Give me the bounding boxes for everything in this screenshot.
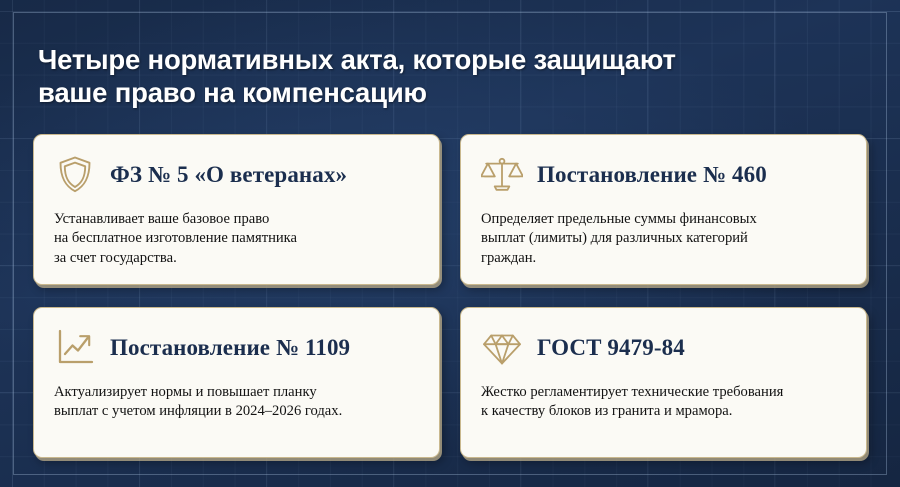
card-header: Постановление № 460 [481, 151, 848, 197]
card-title: Постановление № 460 [537, 161, 767, 188]
card-header: ГОСТ 9479-84 [481, 324, 848, 370]
card-description: Устанавливает ваше базовое право на бесп… [54, 210, 421, 268]
card-header: Постановление № 1109 [54, 324, 421, 370]
law-card-gost-9479-84: ГОСТ 9479-84 Жестко регламентирует техни… [460, 307, 867, 458]
card-title: ФЗ № 5 «О ветеранах» [110, 161, 347, 188]
card-description: Жестко регламентирует технические требов… [481, 383, 848, 422]
card-header: ФЗ № 5 «О ветеранах» [54, 151, 421, 197]
scales-icon [481, 153, 523, 195]
law-card-postanovlenie-460: Постановление № 460 Определяет предельны… [460, 134, 867, 285]
diamond-icon [481, 326, 523, 368]
law-card-postanovlenie-1109: Постановление № 1109 Актуализирует нормы… [33, 307, 440, 458]
card-title: ГОСТ 9479-84 [537, 334, 685, 361]
law-cards-grid: ФЗ № 5 «О ветеранах» Устанавливает ваше … [33, 134, 867, 458]
card-description: Актуализирует нормы и повышает планку вы… [54, 383, 421, 422]
law-card-fz-5: ФЗ № 5 «О ветеранах» Устанавливает ваше … [33, 134, 440, 285]
page-title: Четыре нормативных акта, которые защищаю… [38, 43, 838, 109]
card-title: Постановление № 1109 [110, 334, 350, 361]
growth-chart-icon [54, 326, 96, 368]
infographic-slide: Четыре нормативных акта, которые защищаю… [0, 0, 900, 487]
card-description: Определяет предельные суммы финансовых в… [481, 210, 848, 268]
shield-icon [54, 153, 96, 195]
